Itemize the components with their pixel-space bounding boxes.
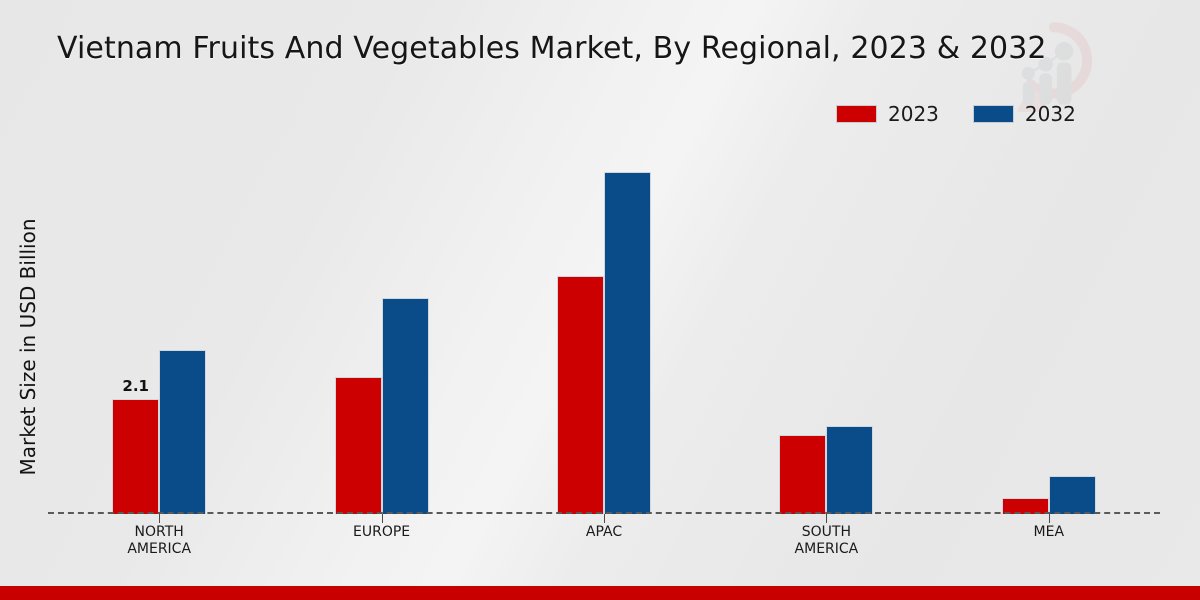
x-axis-label-line: AMERICA (795, 541, 859, 558)
bar-group: 2.1 (112, 120, 206, 514)
x-axis-label-europe: EUROPE (353, 524, 410, 541)
x-axis-label-line: SOUTH (795, 524, 859, 541)
bar-group-bars (779, 120, 873, 514)
bar-group (779, 120, 873, 514)
y-axis-title: Market Size in USD Billion (16, 182, 40, 512)
chart-canvas: Vietnam Fruits And Vegetables Market, By… (0, 0, 1200, 600)
x-axis-tick (826, 514, 827, 523)
x-axis-tick (382, 514, 383, 523)
x-axis-label-apac: APAC (586, 524, 622, 541)
bar-group (557, 120, 651, 514)
bar-2023-europe[interactable] (335, 377, 382, 514)
bottom-accent-band (0, 586, 1200, 600)
bar-2032-apac[interactable] (604, 172, 651, 514)
bar-group-bars (112, 120, 206, 514)
bar-group (1002, 120, 1096, 514)
bar-2023-north-america[interactable] (112, 399, 159, 514)
bar-2032-europe[interactable] (382, 298, 429, 514)
x-axis-label-line: MEA (1034, 524, 1065, 541)
x-axis-label-north-america: NORTHAMERICA (127, 524, 191, 558)
x-axis-tick (604, 514, 605, 523)
x-axis-label-mea: MEA (1034, 524, 1065, 541)
x-axis-tick (1049, 514, 1050, 523)
bar-2023-apac[interactable] (557, 276, 604, 514)
bar-2023-south-america[interactable] (779, 435, 826, 514)
bars-layer: 2.1 (48, 120, 1160, 514)
chart-title: Vietnam Fruits And Vegetables Market, By… (57, 31, 1047, 66)
bar-group-bars (1002, 120, 1096, 514)
x-axis-label-line: APAC (586, 524, 622, 541)
bar-group-bars (557, 120, 651, 514)
bar-2032-south-america[interactable] (826, 426, 873, 514)
bar-group (335, 120, 429, 514)
bar-group-bars (335, 120, 429, 514)
bar-2032-mea[interactable] (1049, 476, 1096, 514)
x-axis-label-line: EUROPE (353, 524, 410, 541)
x-axis-label-line: NORTH (127, 524, 191, 541)
x-axis-label-line: AMERICA (127, 541, 191, 558)
plot-area: 2.1 (48, 120, 1160, 514)
bar-2032-north-america[interactable] (159, 350, 206, 514)
x-axis-label-south-america: SOUTHAMERICA (795, 524, 859, 558)
x-axis-tick (159, 514, 160, 523)
